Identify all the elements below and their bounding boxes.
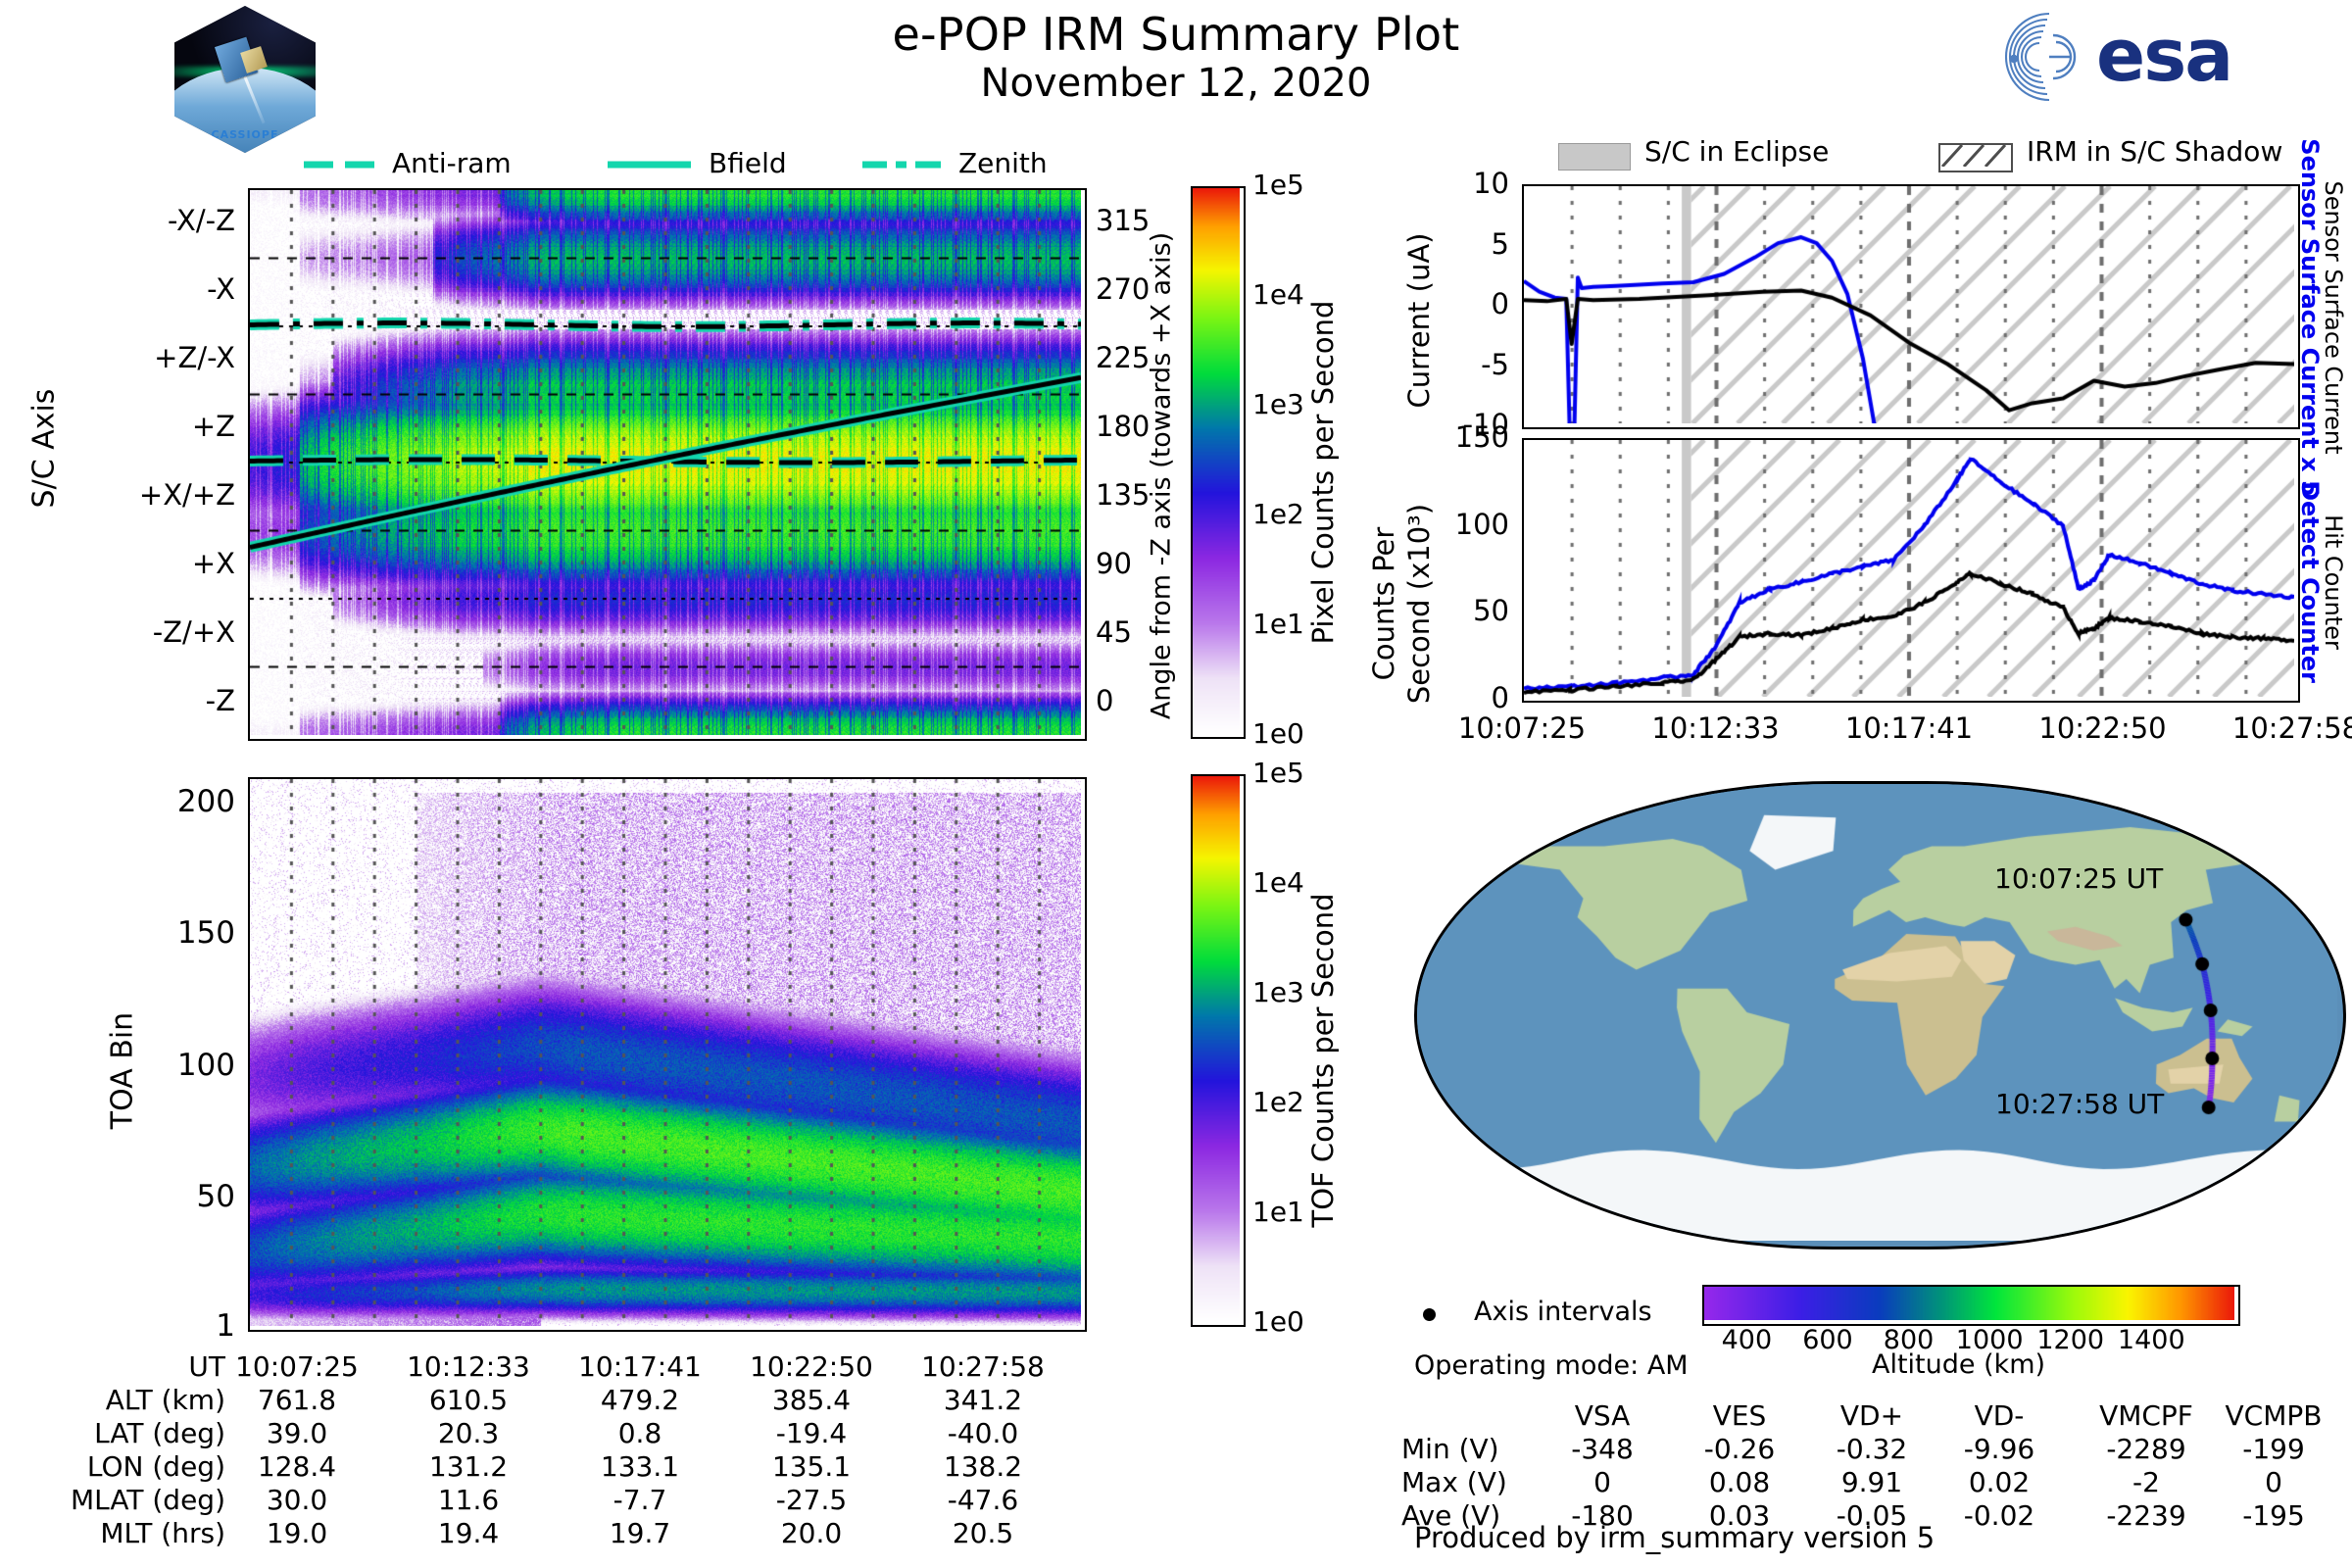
- esa-wordmark: esa: [2096, 14, 2231, 98]
- colorbar-tick-label-1: 1e4: [1252, 278, 1304, 311]
- counts-ylabel-line1: Counts Per: [1366, 437, 1401, 770]
- current-ytick-2: 0: [1411, 287, 1509, 320]
- counts-plot-canvas: [1524, 440, 2294, 697]
- counts-ytick-0: 150: [1411, 420, 1509, 454]
- altitude-colorbar: [1702, 1285, 2240, 1326]
- ground-track-map[interactable]: [1414, 781, 2346, 1249]
- colorbar-tick-label-0: 1e5: [1252, 757, 1304, 789]
- toa-ytick-4: 1: [88, 1308, 235, 1344]
- altitude-tick-1: 600: [1788, 1325, 1867, 1355]
- shadow-swatch-hatch-icon: [1940, 145, 2007, 167]
- angle-ytick-left-7: -Z: [0, 684, 235, 717]
- colorbar-tick-label-2: 1e3: [1252, 388, 1304, 420]
- colorbar-tick-label-0: 1e5: [1252, 169, 1304, 201]
- axis-interval-dot-icon: [1423, 1308, 1436, 1321]
- counts-xtick-4: 10:27:58: [2203, 711, 2352, 745]
- operating-mode-label: Operating mode: AM: [1414, 1350, 1689, 1381]
- altitude-tick-0: 400: [1707, 1325, 1786, 1355]
- angle-ytick-right-5: 90: [1096, 547, 1164, 580]
- angle-ytick-left-4: +X/+Z: [0, 478, 235, 512]
- voltage-row-label-0: Min (V): [1401, 1433, 1529, 1465]
- legend-label-bfield: Bfield: [709, 147, 787, 179]
- logo-mission-name: CASSIOPE: [174, 128, 316, 141]
- voltage-cell-2-5: -195: [2195, 1499, 2352, 1532]
- angle-ytick-left-0: -X/-Z: [0, 204, 235, 237]
- toa-ytick-3: 50: [88, 1179, 235, 1214]
- angle-ytick-left-2: +Z/-X: [0, 341, 235, 374]
- pixel-counts-colorbar: [1191, 186, 1246, 739]
- shade-legend: S/C in Eclipse IRM in S/C Shadow: [1558, 137, 2352, 176]
- toa-spectrogram-canvas: [250, 779, 1081, 1326]
- voltage-cell-0-3: -9.96: [1921, 1433, 2078, 1465]
- current-ytick-0: 10: [1411, 167, 1509, 200]
- angle-ytick-right-3: 180: [1096, 410, 1164, 443]
- current-ytick-1: 5: [1411, 227, 1509, 261]
- voltage-cell-1-5: 0: [2195, 1466, 2352, 1498]
- map-start-label: 10:07:25 UT: [1994, 862, 2163, 895]
- toa-ytick-1: 150: [88, 915, 235, 951]
- angle-ytick-right-7: 0: [1096, 684, 1164, 717]
- eclipse-legend-label: S/C in Eclipse: [1644, 135, 1829, 168]
- counts-xtick-0: 10:07:25: [1429, 711, 1615, 745]
- current-ytick-3: -5: [1411, 348, 1509, 381]
- angle-ytick-left-5: +X: [0, 547, 235, 580]
- toa-ytick-2: 100: [88, 1048, 235, 1083]
- angle-spectrogram-canvas: [250, 190, 1081, 735]
- ephemeris-cell-5-4: 20.5: [875, 1517, 1091, 1549]
- angle-ytick-right-0: 315: [1096, 204, 1164, 237]
- angle-spectrogram-panel[interactable]: [248, 188, 1087, 741]
- cassiope-mission-logo: CASSIOPE: [174, 6, 316, 153]
- altitude-tick-5: 1400: [2112, 1325, 2190, 1355]
- pixel-counts-colorbar-gradient: [1193, 188, 1240, 733]
- colorbar-tick-label-3: 1e2: [1252, 1086, 1304, 1118]
- tof-counts-colorbar-gradient: [1193, 776, 1240, 1321]
- angle-ytick-left-3: +Z: [0, 410, 235, 443]
- colorbar-tick-label-4: 1e1: [1252, 1196, 1304, 1228]
- counts-xtick-1: 10:12:33: [1623, 711, 1809, 745]
- colorbar-tick-label-5: 1e0: [1252, 1305, 1304, 1338]
- angle-ytick-right-6: 45: [1096, 615, 1164, 649]
- legend-label-zenith: Zenith: [958, 147, 1048, 179]
- counts-panel[interactable]: [1522, 438, 2300, 703]
- voltage-col-header-0: VSA: [1524, 1399, 1681, 1432]
- ephemeris-cell-0-4: 10:27:58: [875, 1350, 1091, 1383]
- voltage-cell-2-3: -0.02: [1921, 1499, 2078, 1532]
- axis-intervals-label: Axis intervals: [1474, 1297, 1652, 1327]
- counts-ytick-1: 100: [1411, 508, 1509, 541]
- counts-ytick-3: 0: [1411, 681, 1509, 714]
- counts-xtick-3: 10:22:50: [2010, 711, 2196, 745]
- current-plot-canvas: [1524, 186, 2294, 423]
- colorbar-tick-label-3: 1e2: [1252, 498, 1304, 530]
- angle-ytick-left-6: -Z/+X: [0, 615, 235, 649]
- angle-ytick-right-4: 135: [1096, 478, 1164, 512]
- angle-ytick-right-2: 225: [1096, 341, 1164, 374]
- voltage-col-header-3: VD-: [1921, 1399, 2078, 1432]
- altitude-colorbar-label: Altitude (km): [1872, 1349, 2045, 1380]
- toa-ytick-0: 200: [88, 784, 235, 819]
- angle-panel-ylabel-left: S/C Axis: [27, 351, 62, 547]
- footer-produced-by: Produced by irm_summary version 5: [1414, 1521, 1935, 1554]
- voltage-cell-1-3: 0.02: [1921, 1466, 2078, 1498]
- counts-ytick-2: 50: [1411, 594, 1509, 627]
- ephemeris-cell-2-4: -40.0: [875, 1417, 1091, 1449]
- map-end-label: 10:27:58 UT: [1995, 1088, 2164, 1120]
- altitude-colorbar-gradient: [1704, 1287, 2234, 1320]
- toa-spectrogram-panel[interactable]: [248, 777, 1087, 1332]
- logo-hex-image: CASSIOPE: [174, 6, 316, 153]
- angle-panel-legend: Anti-ram Bfield Zenith: [294, 147, 1039, 186]
- ephemeris-cell-4-4: -47.6: [875, 1484, 1091, 1516]
- voltage-row-label-1: Max (V): [1401, 1466, 1529, 1498]
- colorbar-tick-label-5: 1e0: [1252, 717, 1304, 750]
- current-panel[interactable]: [1522, 184, 2300, 429]
- legend-label-anti-ram: Anti-ram: [392, 147, 512, 179]
- colorbar-tick-label-4: 1e1: [1252, 608, 1304, 640]
- voltage-cell-0-5: -199: [2195, 1433, 2352, 1465]
- pixel-counts-colorbar-label: Pixel Counts per Second: [1306, 218, 1340, 727]
- esa-globe-icon: [1994, 10, 2092, 104]
- shadow-swatch: [1938, 143, 2013, 172]
- shadow-legend-label: IRM in S/C Shadow: [2027, 135, 2282, 168]
- ephemeris-cell-3-4: 138.2: [875, 1450, 1091, 1483]
- tof-counts-colorbar-label: TOF Counts per Second: [1306, 806, 1340, 1315]
- eclipse-swatch: [1558, 143, 1631, 171]
- colorbar-tick-label-2: 1e3: [1252, 976, 1304, 1008]
- voltage-col-header-5: VCMPB: [2195, 1399, 2352, 1432]
- esa-logo: esa: [1994, 8, 2288, 106]
- angle-ytick-left-1: -X: [0, 272, 235, 306]
- ephemeris-table: UT10:07:2510:12:3310:17:4110:22:5010:27:…: [0, 1350, 1176, 1556]
- ground-track-map-canvas: [1417, 784, 2337, 1241]
- ephemeris-cell-1-4: 341.2: [875, 1384, 1091, 1416]
- voltage-table: VSAVESVD+VD-VMCPFVCMPBMin (V)-348-0.26-0…: [1401, 1399, 2352, 1522]
- colorbar-tick-label-1: 1e4: [1252, 866, 1304, 899]
- tof-counts-colorbar: [1191, 774, 1246, 1327]
- angle-ytick-right-1: 270: [1096, 272, 1164, 306]
- counts-xtick-2: 10:17:41: [1816, 711, 2002, 745]
- voltage-cell-0-0: -348: [1524, 1433, 1681, 1465]
- voltage-cell-1-0: 0: [1524, 1466, 1681, 1498]
